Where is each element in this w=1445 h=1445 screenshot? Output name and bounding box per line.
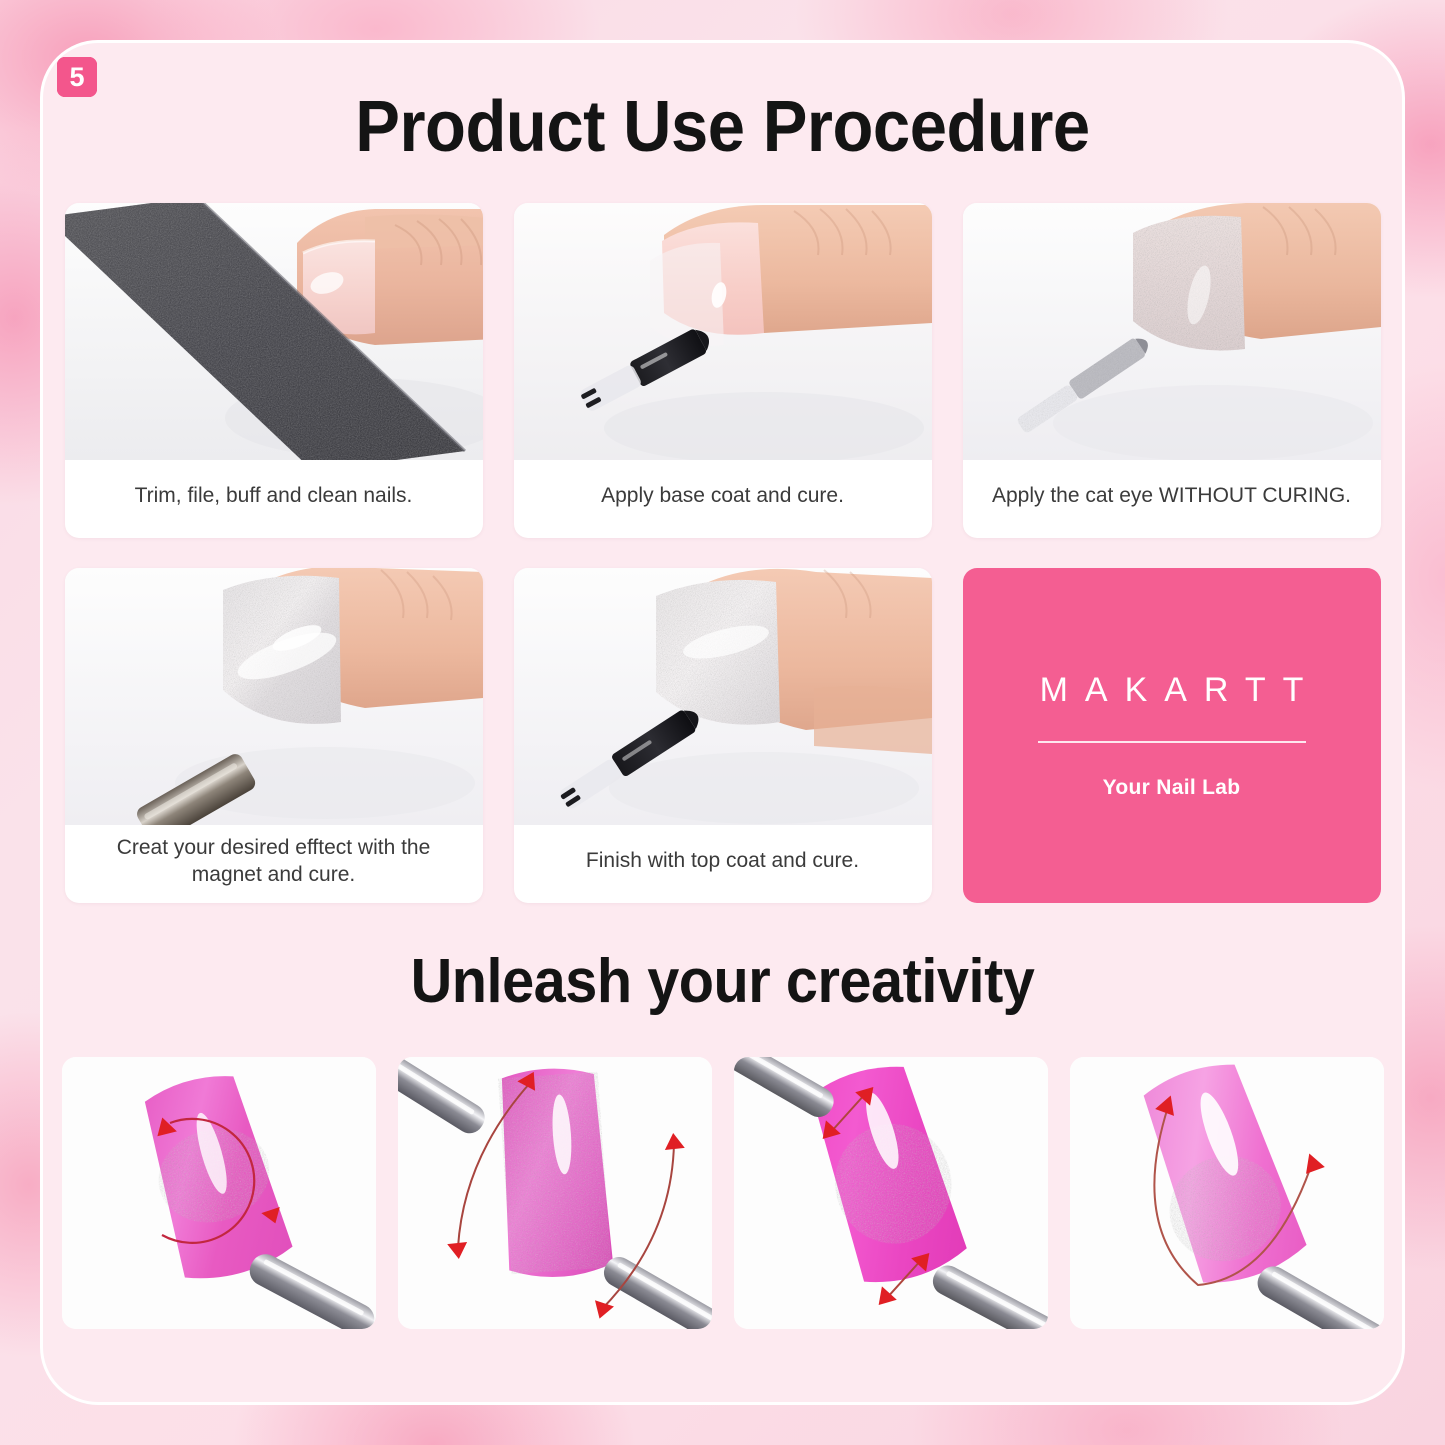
step-card-4[interactable]: 4 Creat your desired efftect with the ma… — [65, 568, 483, 903]
step-card-2[interactable]: 2 Apply base coat and cure. — [514, 203, 932, 538]
page-title-procedure: Product Use Procedure — [91, 91, 1355, 163]
brand-divider — [1038, 741, 1306, 743]
step-caption-2: Apply base coat and cure. — [514, 460, 932, 538]
magnet-stick-cat-eye-photo — [65, 568, 483, 825]
panel-u-sweep[interactable] — [1070, 1057, 1384, 1329]
panel-double-side-arc[interactable] — [398, 1057, 712, 1329]
main-panel: Product Use Procedure — [40, 40, 1405, 1405]
brand-logo-text: MAKARTT — [1023, 671, 1321, 710]
cat-eye-glitter-brush-photo — [963, 203, 1381, 460]
step-caption-3: Apply the cat eye WITHOUT CURING. — [963, 460, 1381, 538]
step-card-5[interactable]: 5 Finish with top coat and cure. — [514, 568, 932, 903]
step-caption-4: Creat your desired efftect with the magn… — [65, 825, 483, 903]
step-card-1[interactable]: 1 Trim, file, buff and clean nails. — [65, 203, 483, 538]
page-title-creativity: Unleash your creativity — [91, 951, 1355, 1013]
nail-file-buffing-photo — [65, 203, 483, 460]
steps-grid: 1 Trim, file, buff and clean nails. — [43, 203, 1402, 903]
panel-diagonal-pull[interactable] — [734, 1057, 1048, 1329]
panel-circular-swirl[interactable] — [62, 1057, 376, 1329]
step-caption-1: Trim, file, buff and clean nails. — [65, 460, 483, 538]
creativity-grid — [43, 1057, 1402, 1329]
brand-card: MAKARTT Your Nail Lab — [963, 568, 1381, 903]
step-card-3[interactable]: 3 Apply the cat eye WITHOUT CURING. — [963, 203, 1381, 538]
step-caption-5: Finish with top coat and cure. — [514, 825, 932, 903]
top-coat-brush-photo — [514, 568, 932, 825]
base-coat-brush-photo — [514, 203, 932, 460]
brand-tagline: Your Nail Lab — [1103, 776, 1241, 800]
